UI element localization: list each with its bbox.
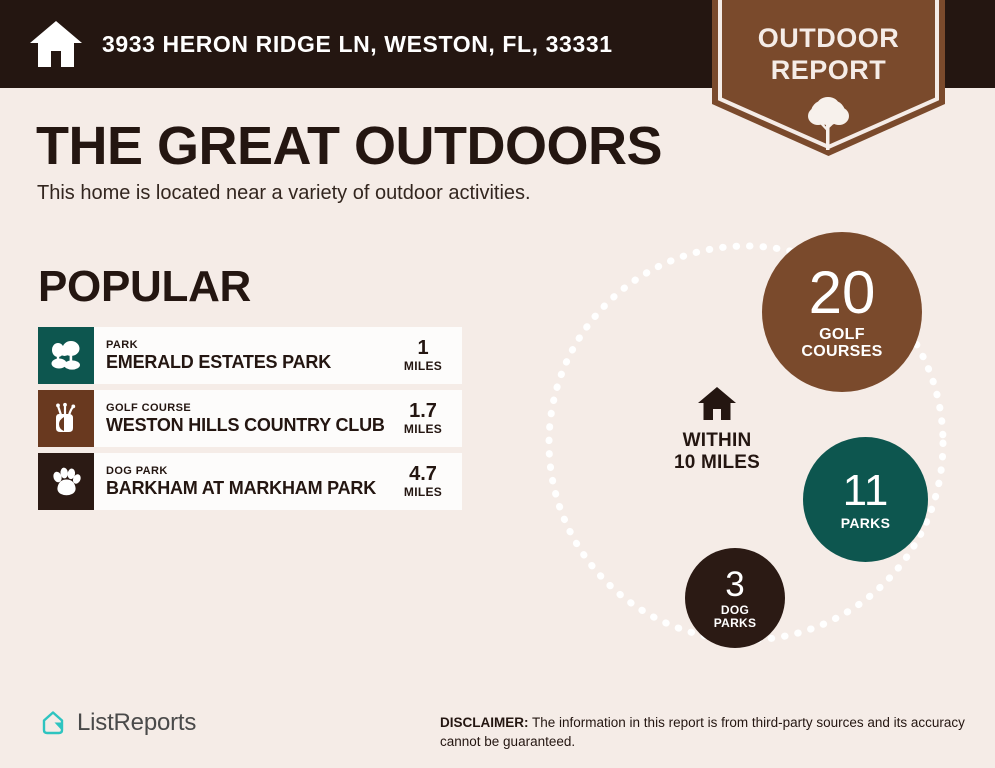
poi-text-block: DOG PARK BARKHAM AT MARKHAM PARK [94,453,390,510]
disclaimer-label: DISCLAIMER: [440,715,529,730]
poi-name: WESTON HILLS COUNTRY CLUB [106,415,390,435]
poi-text-block: GOLF COURSE WESTON HILLS COUNTRY CLUB [94,390,390,447]
radius-text-line2: 10 MILES [646,452,788,474]
disclaimer: DISCLAIMER: The information in this repo… [440,713,970,751]
poi-distance-unit: MILES [404,359,442,373]
badge-title-line2: REPORT [712,54,945,86]
home-icon [697,386,737,422]
poi-name: EMERALD ESTATES PARK [106,352,390,372]
stat-label: GOLF COURSES [801,327,882,361]
radius-text: WITHIN 10 MILES [646,430,788,474]
stat-label-line2: PARKS [714,616,757,630]
home-icon [28,19,84,69]
badge-title: OUTDOOR REPORT [712,22,945,86]
page-title: THE GREAT OUTDOORS [36,116,662,176]
stat-value: 3 [725,567,744,602]
list-item[interactable]: DOG PARK BARKHAM AT MARKHAM PARK 4.7 MIL… [38,453,462,510]
stat-label: DOG PARKS [714,604,757,629]
popular-section-heading: POPULAR [38,262,251,312]
poi-distance-value: 1 [417,338,428,359]
list-item[interactable]: PARK EMERALD ESTATES PARK 1 MILES [38,327,462,384]
list-item[interactable]: GOLF COURSE WESTON HILLS COUNTRY CLUB 1.… [38,390,462,447]
poi-icon-tile [38,327,94,384]
listreports-logo-text: ListReports [77,709,196,737]
poi-distance-value: 1.7 [409,401,437,422]
listreports-logo[interactable]: ListReports [38,708,196,738]
paw-print-icon [49,465,83,499]
stat-value: 20 [809,263,876,323]
poi-distance-value: 4.7 [409,464,437,485]
poi-distance: 1 MILES [390,327,462,384]
poi-category: GOLF COURSE [106,402,390,415]
poi-icon-tile [38,390,94,447]
poi-text-block: PARK EMERALD ESTATES PARK [94,327,390,384]
stat-label-line1: PARKS [841,515,890,531]
stat-label-line2: COURSES [801,343,882,360]
poi-distance: 4.7 MILES [390,453,462,510]
poi-distance-unit: MILES [404,485,442,499]
radius-text-line1: WITHIN [683,430,752,451]
stat-dog-parks: 3 DOG PARKS [685,548,785,648]
poi-distance-unit: MILES [404,422,442,436]
stat-golf-courses: 20 GOLF COURSES [762,232,922,392]
poi-category: PARK [106,339,390,352]
poi-name: BARKHAM AT MARKHAM PARK [106,478,390,498]
property-address: 3933 HERON RIDGE LN, WESTON, FL, 33331 [102,31,613,58]
popular-list: PARK EMERALD ESTATES PARK 1 MILES [38,327,462,516]
radius-center-label: WITHIN 10 MILES [646,386,788,474]
stat-value: 11 [843,469,889,513]
badge-title-line1: OUTDOOR [758,23,900,53]
listreports-house-tag-icon [38,708,68,738]
outdoor-report-badge: OUTDOOR REPORT [712,0,945,156]
poi-distance: 1.7 MILES [390,390,462,447]
golf-bag-icon [49,402,83,436]
park-trees-icon [49,339,83,373]
stat-label-line1: GOLF [819,326,865,343]
stat-label: PARKS [841,516,890,531]
page-subtitle: This home is located near a variety of o… [37,182,531,205]
outdoor-report-page: 3933 HERON RIDGE LN, WESTON, FL, 33331 O… [0,0,995,768]
poi-icon-tile [38,453,94,510]
stat-parks: 11 PARKS [803,437,928,562]
poi-category: DOG PARK [106,465,390,478]
